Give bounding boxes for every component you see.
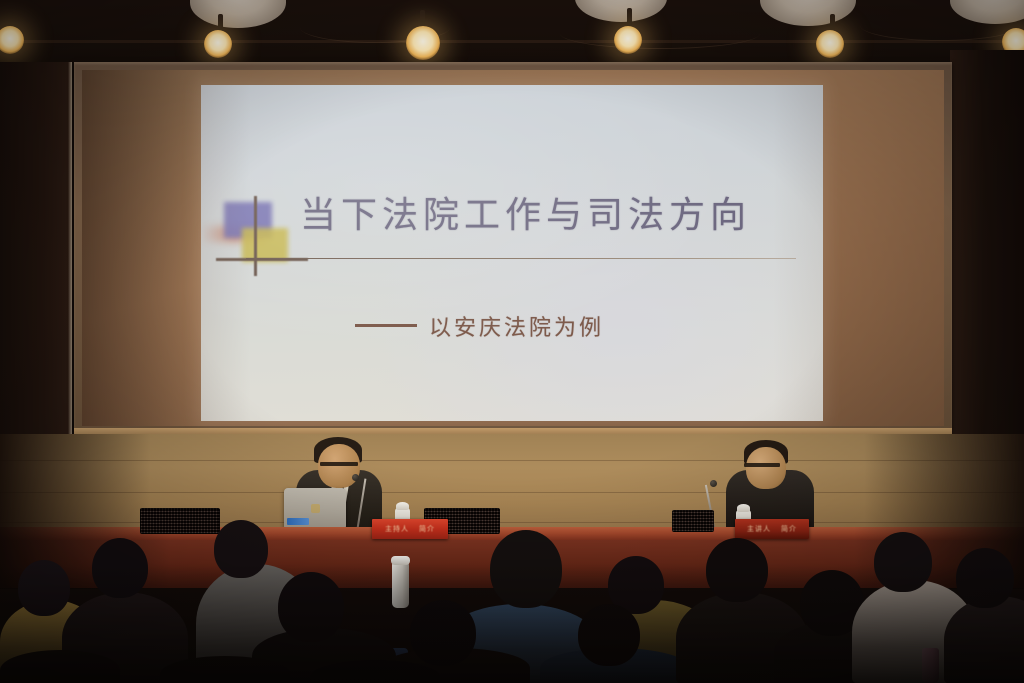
placard-right: 主讲人 简介 [735, 519, 809, 539]
presenter-right-glasses [744, 463, 780, 467]
ceiling-cable [560, 18, 760, 49]
audience-foreground-shadow [0, 563, 1024, 683]
ceiling-spotlight [204, 30, 232, 58]
placard-left-line1: 主持人 [385, 524, 409, 534]
ceiling-spotlight [614, 26, 642, 54]
ceiling-spotlight [406, 26, 440, 60]
slide-decorative-motif [216, 196, 308, 278]
laptop-logo [311, 504, 320, 513]
presenter-laptop [284, 488, 346, 528]
placard-right-line2: 简介 [781, 524, 797, 534]
presenter-right-head [746, 447, 786, 489]
slide-subtitle-dash [355, 324, 417, 327]
teacup-left-lid [396, 502, 409, 510]
placard-left-line2: 简介 [419, 524, 435, 534]
panel-shadow [82, 70, 202, 426]
ceiling-rail [0, 40, 1024, 43]
slide-title-rule [246, 258, 796, 259]
motif-olive-square [242, 228, 288, 262]
slide-title: 当下法院工作与司法方向 [300, 198, 790, 234]
placard-right-line1: 主讲人 [747, 524, 771, 534]
presenter-left-head [318, 444, 360, 488]
teacup-right-lid [737, 504, 750, 512]
motif-vertical-line [254, 196, 257, 276]
slide-subtitle: 以安庆法院为例 [429, 316, 604, 341]
placard-left: 主持人 简介 [372, 519, 448, 539]
presenter-left-glasses [320, 462, 358, 466]
lecture-hall-photo: 当下法院工作与司法方向 以安庆法院为例 [0, 0, 1024, 683]
table-speaker-grille [672, 510, 714, 532]
presenter-right-microphone-head [710, 480, 717, 487]
laptop-sticker [287, 518, 309, 525]
ceiling-spotlight [816, 30, 844, 58]
spotlight-stem [627, 8, 632, 28]
slide-subtitle-row: 以安庆法院为例 [355, 310, 775, 342]
presenter-left-microphone-head [352, 474, 359, 481]
